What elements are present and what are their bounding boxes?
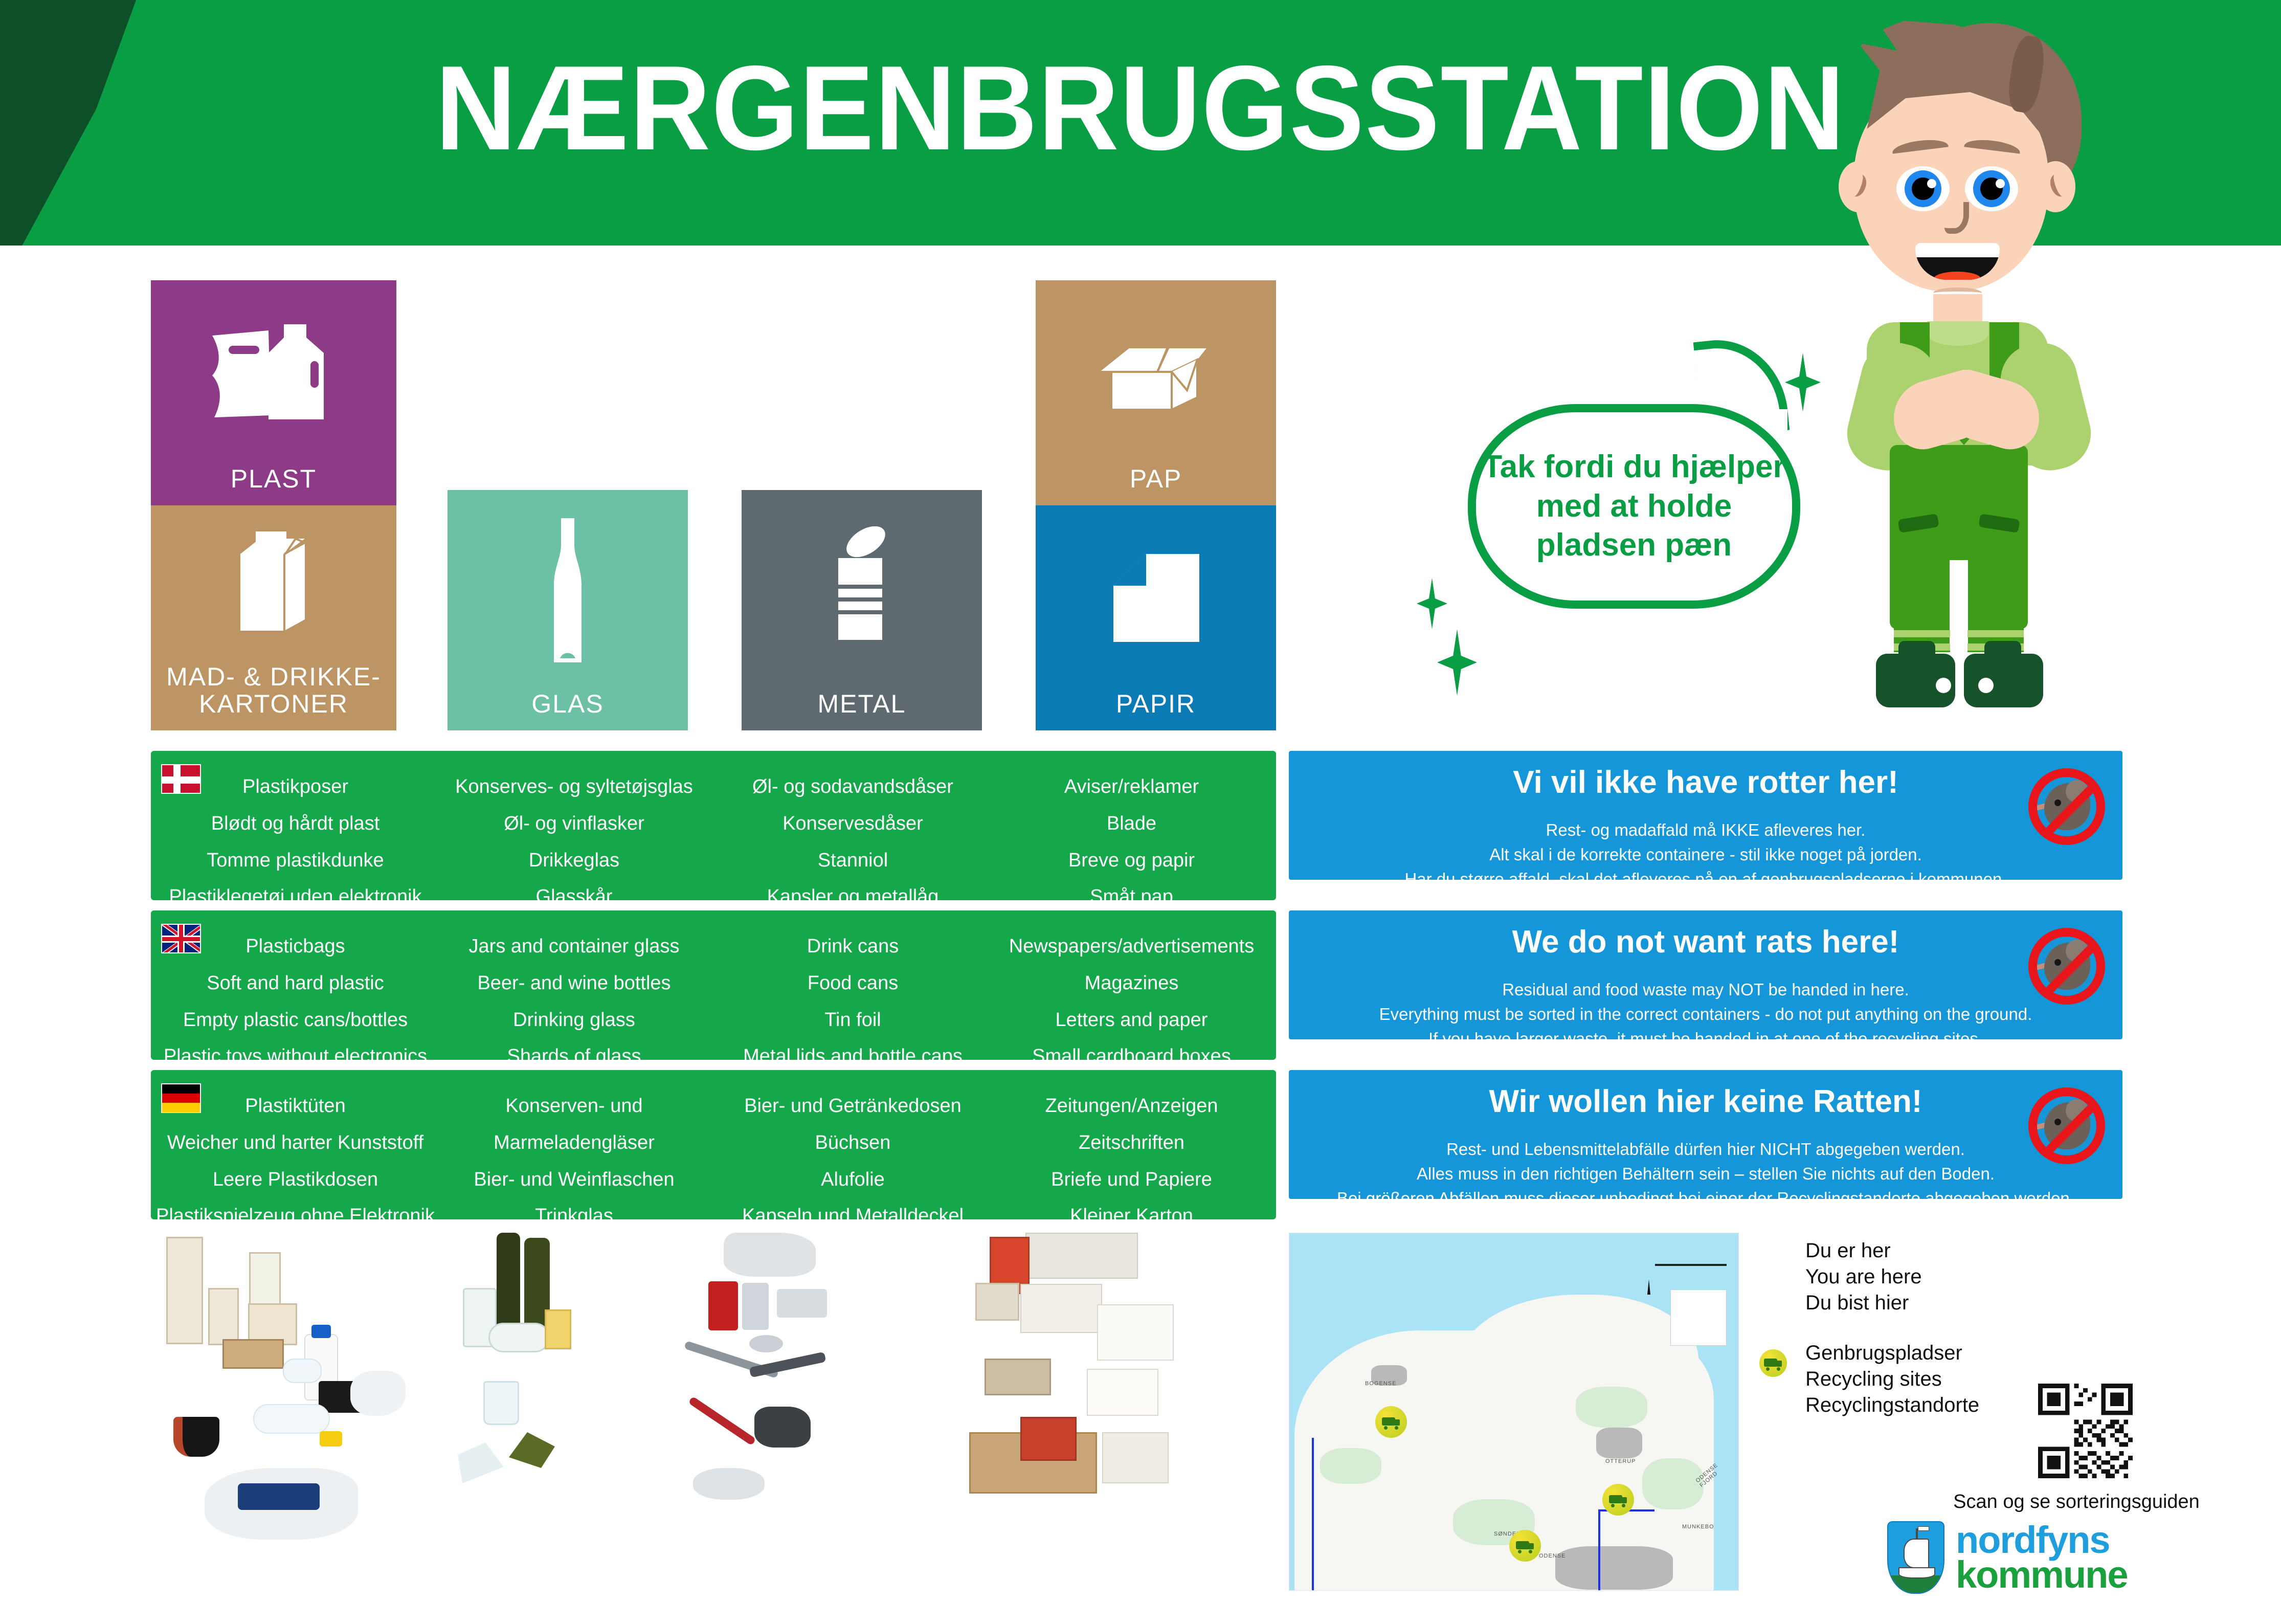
no-rats-icon [2028, 1087, 2105, 1164]
map-green-area [1320, 1448, 1381, 1484]
legend-you-are-here-da: Du er her [1805, 1238, 2122, 1264]
list-item: Drinking glass [513, 1010, 635, 1031]
list-item: Kleiner Karton [1070, 1206, 1193, 1227]
list-item: Plastiktüten [245, 1096, 345, 1117]
sparkle-icon-2 [1417, 578, 1447, 629]
union-jack-flag-icon [161, 924, 201, 953]
photo-clear-pet-bottle [283, 1359, 322, 1383]
map-north-arrow-icon [1647, 1279, 1650, 1295]
logo-line-2: kommune [1956, 1558, 2128, 1592]
photo-cardboard-tray [222, 1339, 284, 1369]
list-item: Trinkglas [535, 1206, 613, 1227]
category-tiles: PLAST MAD- & DRIKKE-KARTONER GLAS [151, 280, 1276, 730]
list-item: Jars and container glass [469, 936, 680, 958]
photo-small-box [975, 1283, 1019, 1321]
mascot-boot-dot-right [1978, 678, 1994, 693]
legend-you-are-here-de: Du bist hier [1805, 1290, 2122, 1316]
photo-milk-carton [166, 1237, 203, 1344]
danish-flag-icon [161, 764, 201, 794]
list-item: Konservesdåser [782, 813, 923, 835]
recycling-truck-icon [1764, 1356, 1782, 1370]
list-item: Bier- und Getränkedosen [744, 1096, 961, 1117]
speech-bubble-text: Tak fordi du hjælper med at holde pladse… [1476, 448, 1792, 566]
photo-yellow-cap [320, 1431, 342, 1447]
tile-papir[interactable]: PAPIR [1036, 505, 1276, 730]
list-item: Drink cans [807, 936, 899, 958]
photo-plant-pot [173, 1417, 219, 1457]
map-marker-recycling-site[interactable] [1602, 1484, 1634, 1516]
coat-of-arms-icon [1887, 1521, 1944, 1594]
list-item: Newspapers/advertisements [1009, 936, 1254, 958]
photo-newspaper-stack [1025, 1233, 1138, 1279]
list-item: Kapseln und Metalldeckel [742, 1206, 964, 1227]
mascot-collar [1927, 321, 1988, 346]
photo-plastic-film [350, 1371, 406, 1416]
photo-scissors-red [688, 1396, 756, 1445]
plastic-bag-and-bottle-icon [151, 280, 396, 465]
no-rats-icon [2028, 928, 2105, 1005]
panel-en-col-metal: Drink cans Food cans Tin foil Metal lids… [713, 927, 992, 1051]
map-label-munkebo: MUNKEBO [1682, 1524, 1714, 1530]
notice-en-line-3: If you have larger waste, it must be han… [1307, 1027, 2104, 1051]
photo-can-lid-pile [693, 1468, 765, 1500]
map-legend-box [1670, 1289, 1727, 1346]
mascot-leg-stripe-right [1967, 630, 2024, 637]
list-item: Småt pap [1090, 886, 1173, 908]
list-item: Letters and paper [1056, 1010, 1208, 1031]
list-item: Konserven- und [505, 1096, 642, 1117]
list-item: Empty plastic cans/bottles [183, 1010, 408, 1031]
list-item: Blade [1107, 813, 1156, 835]
photo-foil-pile [724, 1233, 816, 1277]
photo-magazine [1020, 1284, 1102, 1333]
list-item: Briefe und Papiere [1051, 1169, 1212, 1191]
notice-da-line-1: Rest- og madaffald må IKKE afleveres her… [1307, 818, 2104, 842]
map-green-area [1642, 1458, 1704, 1509]
metal-can-icon [742, 490, 982, 691]
sparkle-icon-3 [1437, 629, 1477, 696]
mascot-mouth [1915, 243, 2000, 280]
mascot-leg-left [1894, 555, 1950, 652]
milk-carton-icon [151, 505, 396, 663]
photo-jam-jar-lying [488, 1323, 550, 1352]
list-item: Alufolie [821, 1169, 885, 1191]
cardboard-box-icon [1036, 280, 1276, 465]
paper-sheet-icon [1036, 505, 1276, 691]
list-item: Aviser/reklamer [1064, 776, 1199, 798]
photo-can-silver [742, 1283, 769, 1330]
panel-german: Plastiktüten Weicher und harter Kunststo… [151, 1070, 1276, 1219]
tile-kartoner-label: MAD- & DRIKKE-KARTONER [151, 663, 396, 730]
panel-de-col-metal: Bier- und Getränkedosen Büchsen Alufolie… [713, 1086, 992, 1210]
recycling-truck-icon [1516, 1539, 1534, 1552]
panel-da-col-metal: Øl- og sodavandsdåser Konservesdåser Sta… [713, 767, 992, 891]
panel-da-col-plast: Plastikposer Blødt og hårdt plast Tomme … [156, 767, 435, 891]
legend-recycling-marker-icon [1759, 1349, 1787, 1377]
mascot-leg-right [1967, 555, 2024, 652]
list-item: Zeitungen/Anzeigen [1045, 1096, 1218, 1117]
municipality-map[interactable]: BOGENSE ODENSE OTTERUP SØNDERSØ MUNKEBO … [1289, 1233, 1739, 1591]
photo-tin-lid [749, 1335, 783, 1352]
tile-metal-label: METAL [818, 691, 906, 731]
speech-bubble: Tak fordi du hjælper med at holde pladse… [1468, 404, 1800, 609]
list-item: Stanniol [818, 850, 888, 872]
mascot-eye-glint-right [1996, 179, 2005, 188]
notice-english: We do not want rats here! Residual and f… [1289, 910, 2122, 1039]
tile-metal[interactable]: METAL [742, 490, 982, 730]
list-item: Weicher und harter Kunststoff [167, 1132, 423, 1154]
qr-caption: Scan og se sorteringsguiden [1913, 1491, 2240, 1513]
panel-da-col-papir: Aviser/reklamer Blade Breve og papir Små… [992, 767, 1271, 891]
notice-de-line-1: Rest- und Lebensmittelabfälle dürfen hie… [1307, 1137, 2104, 1162]
photo-egg-tray [985, 1359, 1051, 1395]
photo-bag-label [238, 1483, 320, 1510]
mascot-boot-right [1964, 654, 2043, 707]
notice-en-heading: We do not want rats here! [1307, 924, 2104, 960]
logo-line-1: nordfyns [1956, 1523, 2128, 1558]
panel-de-col-glas: Konserven- und Marmeladengläser Bier- un… [435, 1086, 713, 1210]
list-item: Magazines [1085, 973, 1179, 994]
map-label-odense: ODENSE [1539, 1553, 1566, 1559]
list-item: Kapsler og metallåg [767, 886, 939, 908]
photo-small-carton [208, 1288, 239, 1345]
map-scale-bar [1655, 1264, 1727, 1266]
photo-glass-shard-green [509, 1432, 555, 1468]
list-item: Plastiklegetøj uden elektronik [169, 886, 421, 908]
map-urban-area [1596, 1428, 1642, 1458]
list-item: Breve og papir [1068, 850, 1195, 872]
mascot-eye-glint-left [1927, 179, 1936, 188]
photo-glass-shard-clear [458, 1442, 504, 1483]
notice-de-line-2: Alles muss in den richtigen Behältern se… [1307, 1162, 2104, 1186]
list-item: Small cardboard boxes [1032, 1046, 1231, 1067]
photo-metal-scrap [754, 1407, 811, 1448]
notice-de-heading: Wir wollen hier keine Ratten! [1307, 1083, 2104, 1120]
mascot-boot-dot-left [1936, 678, 1951, 693]
mascot-leg-gap [1950, 560, 1968, 650]
notice-german: Wir wollen hier keine Ratten! Rest- und … [1289, 1070, 2122, 1199]
tile-papir-label: PAPIR [1116, 691, 1196, 731]
map-marker-recycling-site[interactable] [1509, 1530, 1541, 1562]
tile-pap[interactable]: PAP [1036, 280, 1276, 505]
waste-example-photos [151, 1228, 1276, 1596]
list-item: Beer- and wine bottles [477, 973, 670, 994]
notice-da-heading: Vi vil ikke have rotter her! [1307, 764, 2104, 800]
map-label-bogense: BOGENSE [1365, 1381, 1396, 1387]
list-item: Konserves- og syltetøjsglas [455, 776, 693, 798]
legend-recycling-sites-da: Genbrugspladser [1805, 1340, 2122, 1366]
notice-da-line-2: Alt skal i de korrekte containere - stil… [1307, 842, 2104, 867]
map-label-otterup: OTTERUP [1605, 1458, 1636, 1464]
german-flag-icon [161, 1083, 201, 1113]
tile-kartoner[interactable]: MAD- & DRIKKE-KARTONER [151, 505, 396, 730]
tile-plast-label: PLAST [231, 465, 317, 506]
notice-en-line-2: Everything must be sorted in the correct… [1307, 1002, 2104, 1027]
list-item: Plastikposer [242, 776, 348, 798]
panel-danish: Plastikposer Blødt og hårdt plast Tomme … [151, 751, 1276, 900]
panel-de-col-papir: Zeitungen/Anzeigen Zeitschriften Briefe … [992, 1086, 1271, 1210]
photo-paper-sheets [1097, 1304, 1174, 1361]
list-item: Soft and hard plastic [207, 973, 384, 994]
list-item: Øl- og sodavandsdåser [752, 776, 953, 798]
photo-drinking-glass [483, 1381, 519, 1425]
nordfyns-kommune-logo: nordfyns kommune [1887, 1514, 2143, 1601]
list-item: Bier- und Weinflaschen [474, 1169, 674, 1191]
map-marker-recycling-site[interactable] [1375, 1406, 1407, 1438]
qr-code[interactable] [2038, 1384, 2133, 1478]
notice-de-line-3: Bei größeren Abfällen muss dieser unbedi… [1307, 1186, 2104, 1211]
tile-glas[interactable]: GLAS [448, 490, 688, 730]
panel-da-col-glas: Konserves- og syltetøjsglas Øl- og vinfl… [435, 767, 713, 891]
map-municipality-border [1598, 1509, 1600, 1591]
recycling-truck-icon [1609, 1493, 1627, 1506]
photo-glass-box [545, 1309, 571, 1349]
list-item: Büchsen [815, 1132, 891, 1154]
list-item: Blødt og hårdt plast [211, 813, 380, 835]
list-item: Marmeladengläser [494, 1132, 655, 1154]
list-item: Tin foil [824, 1010, 881, 1031]
recycling-truck-icon [1382, 1415, 1400, 1429]
notice-en-line-1: Residual and food waste may NOT be hande… [1307, 977, 2104, 1002]
list-item: Food cans [808, 973, 898, 994]
map-urban-area [1555, 1546, 1673, 1590]
list-item: Plasticbags [245, 936, 345, 958]
glass-bottle-icon [448, 490, 688, 691]
legend-you-are-here-en: You are here [1805, 1264, 2122, 1290]
panel-de-col-plast: Plastiktüten Weicher und harter Kunststo… [156, 1086, 435, 1210]
photo-lying-bottle [253, 1404, 330, 1434]
mascot-illustration: ♻ [1810, 5, 2128, 747]
tile-glas-label: GLAS [531, 691, 603, 731]
panel-en-col-plast: Plasticbags Soft and hard plastic Empty … [156, 927, 435, 1051]
notice-danish: Vi vil ikke have rotter her! Rest- og ma… [1289, 751, 2122, 880]
panel-en-col-glas: Jars and container glass Beer- and wine … [435, 927, 713, 1051]
list-item: Glasskår [536, 886, 613, 908]
list-item: Plastic toys without electronics [164, 1046, 427, 1067]
photo-envelope [1087, 1369, 1158, 1416]
list-item: Drikkeglas [529, 850, 619, 872]
list-item: Metal lids and bottle caps [743, 1046, 963, 1067]
list-item: Zeitschriften [1079, 1132, 1184, 1154]
photo-pliers [749, 1352, 826, 1378]
no-rats-icon [2028, 768, 2105, 845]
tile-pap-label: PAP [1130, 465, 1182, 506]
list-item: Tomme plastikdunke [207, 850, 384, 872]
tile-plast[interactable]: PLAST [151, 280, 396, 505]
notice-da-line-3: Har du større affald, skal det afleveres… [1307, 867, 2104, 892]
panel-english: Plasticbags Soft and hard plastic Empty … [151, 910, 1276, 1060]
photo-foil-tray [777, 1289, 827, 1318]
photo-red-carton-box [1020, 1417, 1077, 1461]
list-item: Shards of glass [507, 1046, 641, 1067]
photo-paper-bag [1102, 1432, 1169, 1483]
list-item: Øl- og vinflasker [504, 813, 644, 835]
panel-en-col-papir: Newspapers/advertisements Magazines Lett… [992, 927, 1271, 1051]
map-green-area [1576, 1387, 1647, 1428]
photo-bottle-cap-blue [311, 1325, 331, 1338]
map-municipality-border [1312, 1438, 1314, 1591]
mascot-leg-stripe-left [1894, 630, 1950, 637]
photo-can-red [708, 1281, 738, 1330]
list-item: Plastikspielzeug ohne Elektronik [156, 1206, 435, 1227]
list-item: Leere Plastikdosen [213, 1169, 378, 1191]
